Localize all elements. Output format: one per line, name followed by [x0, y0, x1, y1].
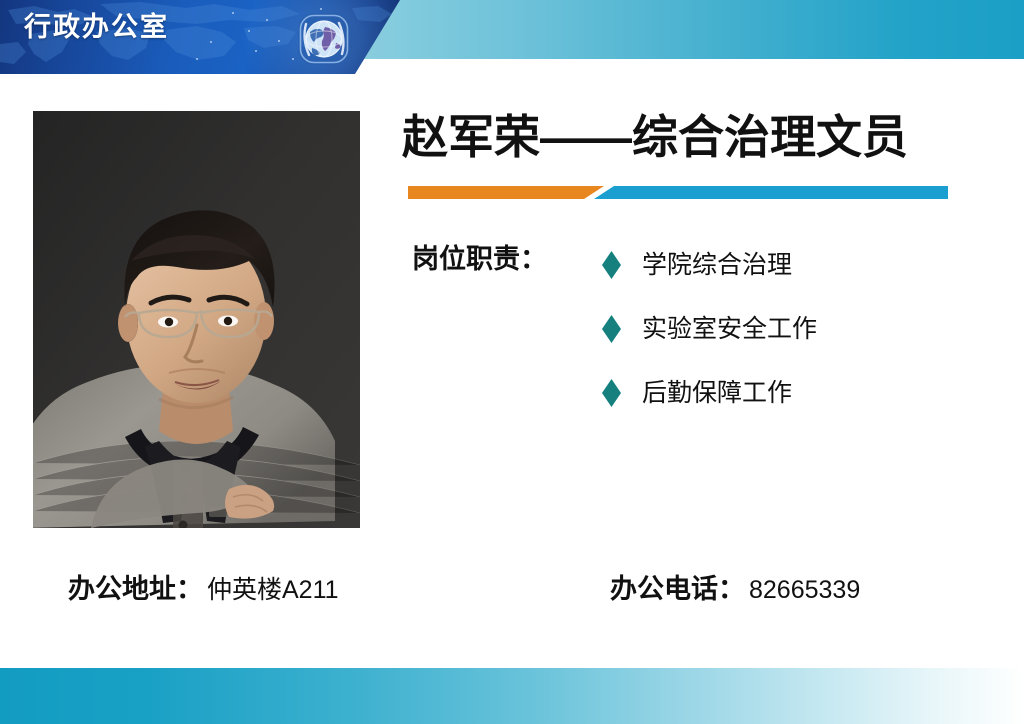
- office-address-value: 仲英楼A211: [207, 578, 339, 603]
- globe-icon: [295, 10, 353, 68]
- list-item: 实验室安全工作: [602, 297, 817, 361]
- page-title: 赵军荣——综合治理文员: [402, 112, 908, 164]
- office-banner-title: 行政办公室: [24, 14, 169, 41]
- diamond-bullet-icon: [602, 251, 621, 279]
- office-phone-block: 办公电话： 82665339: [610, 576, 860, 603]
- duties-label: 岗位职责：: [412, 237, 547, 276]
- duty-text: 后勤保障工作: [642, 381, 792, 406]
- title-divider-bar: [408, 186, 948, 199]
- contact-row: 办公地址： 仲英楼A211 办公电话： 82665339: [0, 576, 1024, 618]
- office-address-label: 办公地址：: [68, 576, 203, 603]
- list-item: 学院综合治理: [602, 233, 817, 297]
- office-phone-label: 办公电话：: [610, 576, 745, 603]
- duty-text: 实验室安全工作: [642, 317, 817, 342]
- duty-text: 学院综合治理: [642, 253, 792, 278]
- office-phone-value: 82665339: [749, 578, 860, 603]
- footer-gradient-band: [0, 668, 1024, 724]
- office-address-block: 办公地址： 仲英楼A211: [68, 576, 339, 603]
- divider-orange-segment: [408, 186, 604, 199]
- portrait-photo-image: [33, 111, 360, 528]
- duties-list: 学院综合治理 实验室安全工作 后勤保障工作: [602, 233, 817, 425]
- diamond-bullet-icon: [602, 315, 621, 343]
- list-item: 后勤保障工作: [602, 361, 817, 425]
- diamond-bullet-icon: [602, 379, 621, 407]
- portrait-photo: [33, 111, 360, 528]
- slide-header: 行政办公室: [0, 0, 1024, 90]
- divider-blue-segment: [594, 186, 948, 199]
- slide-canvas: 行政办公室: [0, 0, 1024, 724]
